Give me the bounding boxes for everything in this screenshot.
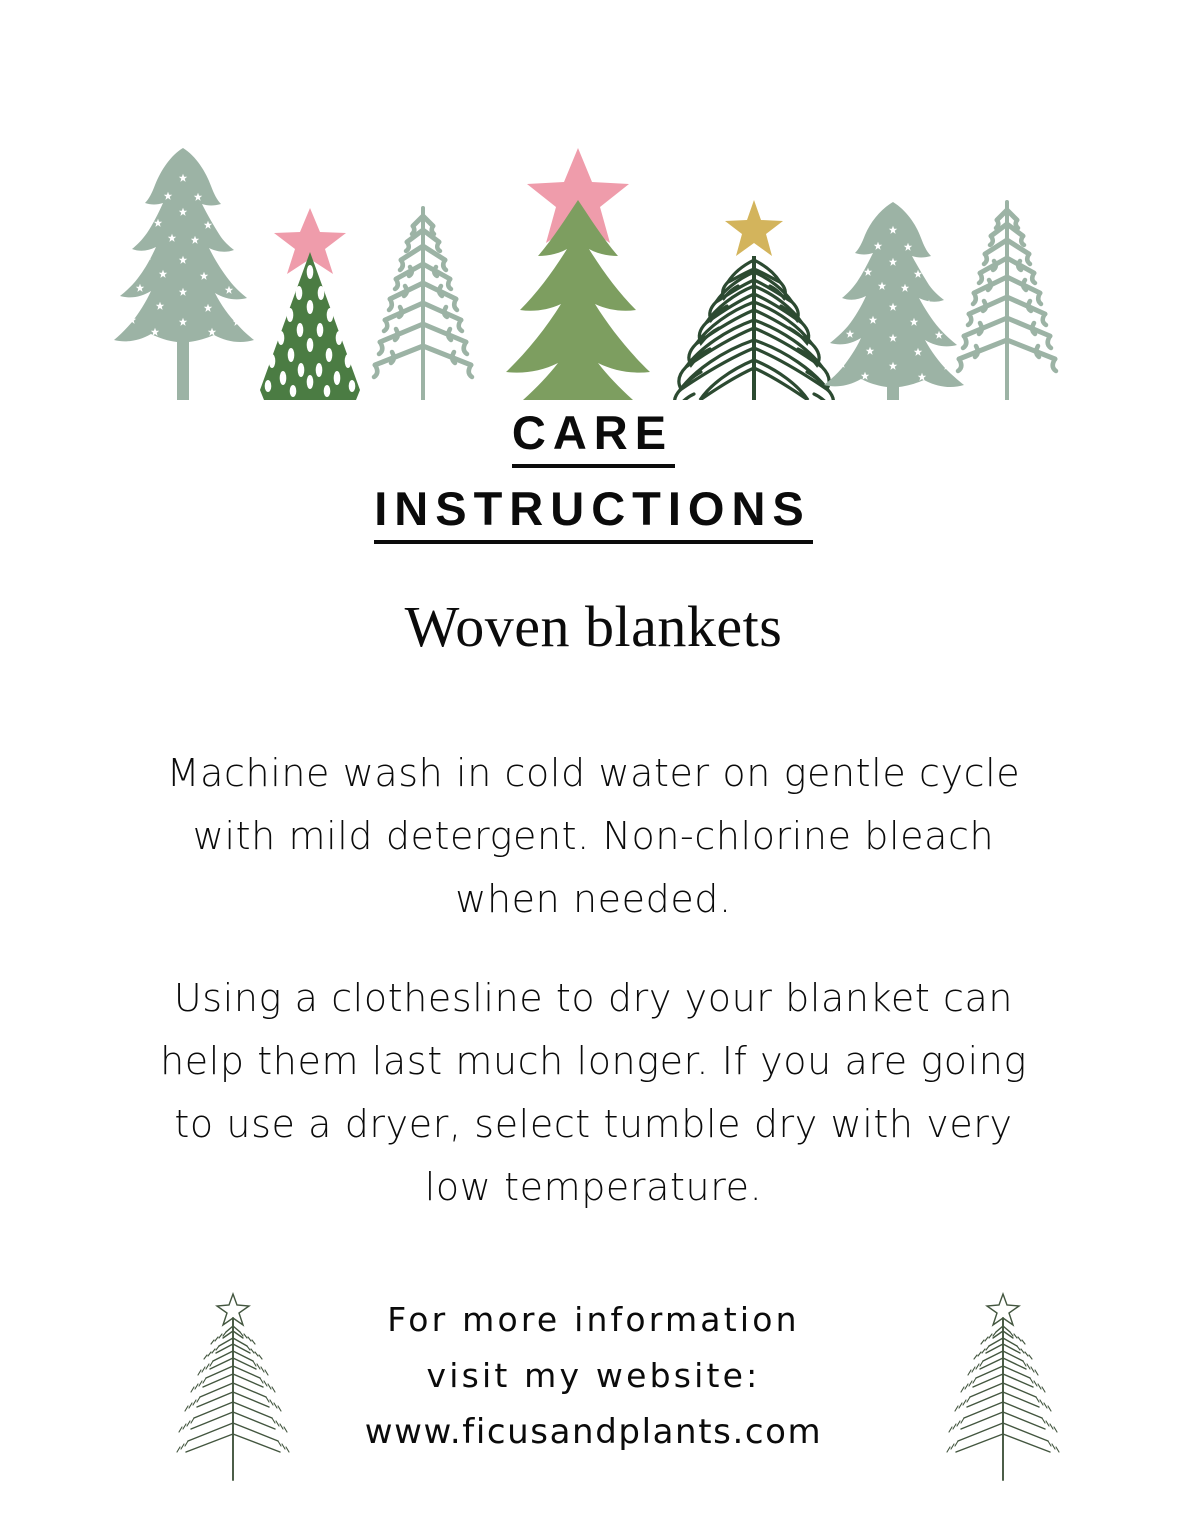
title-row-instructions: INSTRUCTIONS: [0, 480, 1187, 551]
tree-dotted-sage-1: [114, 148, 254, 400]
corner-tree-right: [928, 1272, 1078, 1500]
title-line-care: CARE: [512, 404, 675, 468]
care-instructions-body: Machine wash in cold water on gentle cyc…: [140, 742, 1047, 1219]
tree-dotted-sage-2: [824, 202, 964, 400]
title-row-care: CARE: [0, 404, 1187, 475]
title-line-instructions: INSTRUCTIONS: [374, 480, 813, 544]
subtitle: Woven blankets: [0, 592, 1187, 662]
tree-classic-olive: [491, 148, 665, 400]
corner-tree-left: [158, 1272, 308, 1500]
gold-star-icon: [725, 200, 783, 256]
christmas-tree-border: [0, 60, 1187, 400]
page-title: CARE INSTRUCTIONS: [0, 404, 1187, 551]
tree-striped-green: [260, 208, 360, 400]
tree-feathered-sage-2: [958, 202, 1056, 400]
body-paragraph-drying: Using a clothesline to dry your blanket …: [140, 967, 1047, 1219]
tree-feathered-sage-1: [374, 208, 472, 400]
tree-sketch-dark: [675, 200, 834, 400]
body-paragraph-washing: Machine wash in cold water on gentle cyc…: [140, 742, 1047, 931]
